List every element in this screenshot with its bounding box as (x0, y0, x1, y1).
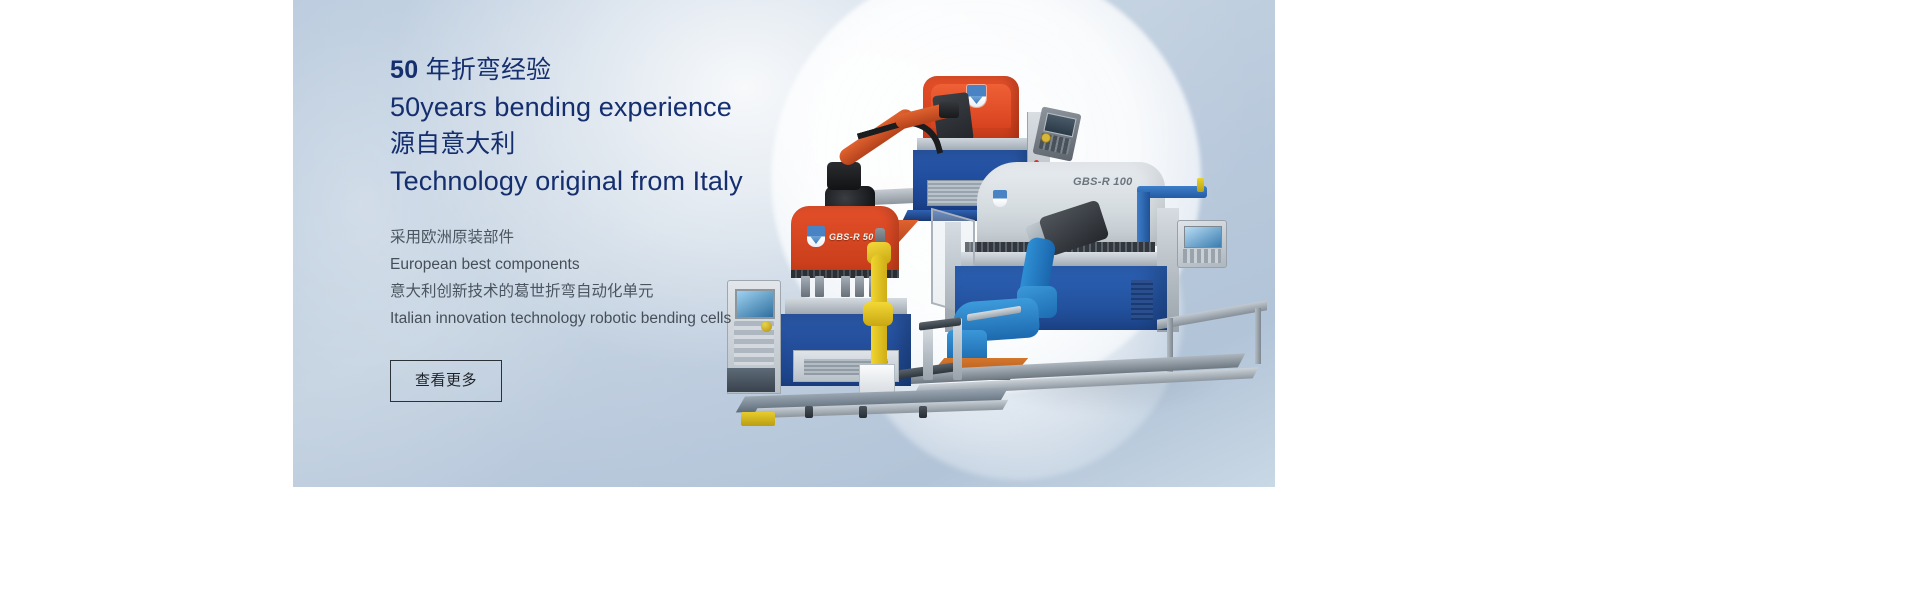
headline-line-2: 50years bending experience (390, 89, 950, 126)
hero-banner: GBS-R 100 (293, 0, 1275, 487)
headline-line-1-rest: 年折弯经验 (419, 56, 552, 84)
subcopy-line-1: 采用欧洲原装部件 (390, 224, 950, 251)
fixture-post (953, 318, 962, 380)
subcopy-line-3: 意大利创新技术的葛世折弯自动化单元 (390, 278, 950, 305)
view-more-button[interactable]: 查看更多 (390, 360, 502, 402)
subcopy-line-4: Italian innovation technology robotic be… (390, 305, 950, 332)
machine-foot (919, 406, 927, 418)
headline-line-3: 源自意大利 (390, 126, 950, 163)
subcopy-group: 采用欧洲原装部件 European best components 意大利创新技… (390, 224, 950, 332)
headline-line-4: Technology original from Italy (390, 163, 950, 200)
hmi-screen (1184, 226, 1222, 248)
headline-group: 50 年折弯经验 50years bending experience 源自意大… (390, 52, 950, 200)
ventilation-grille (1131, 280, 1153, 320)
hmi-keypad (1183, 249, 1221, 263)
hmi-control-panel (1177, 220, 1227, 268)
lag-logo-icon (993, 190, 1007, 207)
machine-foot (859, 406, 867, 418)
headline-line-1: 50 年折弯经验 (390, 52, 950, 89)
headline-years-number: 50 (390, 56, 419, 84)
banner-copy: 50 年折弯经验 50years bending experience 源自意大… (390, 52, 950, 402)
control-pendant (1032, 106, 1081, 161)
safety-foot-mat (741, 412, 775, 426)
lag-logo-icon (967, 85, 986, 107)
bench-leg (1255, 308, 1261, 364)
page-root: GBS-R 100 (0, 0, 1920, 595)
signal-light-icon (1197, 178, 1204, 192)
machine-foot (805, 406, 813, 418)
subcopy-line-2: European best components (390, 251, 950, 278)
fixture-rail (967, 306, 1021, 322)
machine-model-label: GBS-R 100 (1073, 176, 1133, 188)
